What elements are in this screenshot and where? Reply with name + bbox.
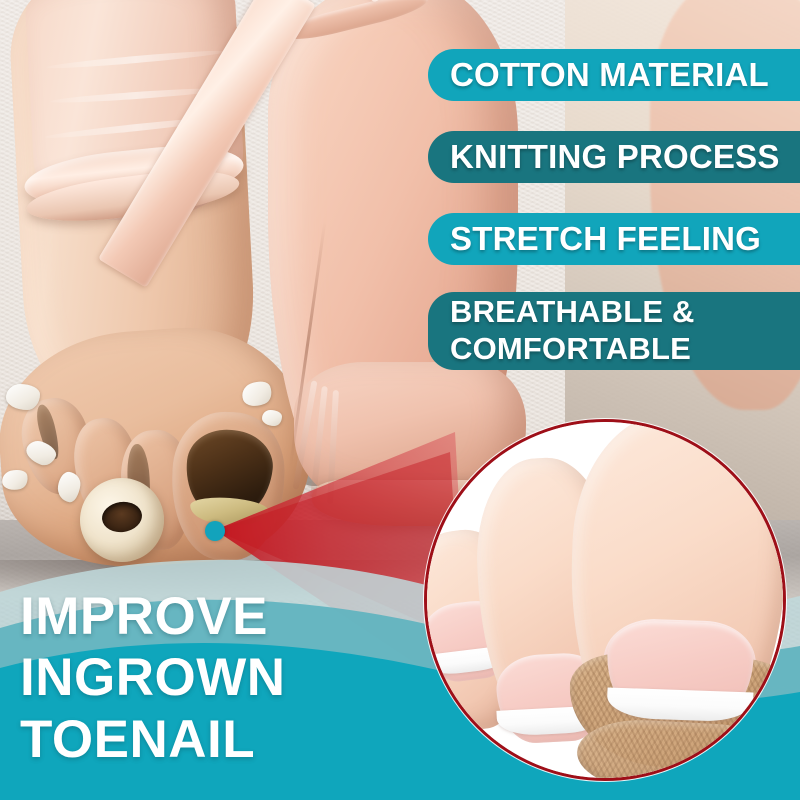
feature-banner-knitting-process[interactable]: KNITTING PROCESS	[428, 131, 800, 183]
feature-banner-label: KNITTING PROCESS	[450, 138, 780, 176]
feature-banner-label-group: BREATHABLE & COMFORTABLE	[450, 294, 695, 367]
headline-line-1: IMPROVE	[20, 586, 286, 647]
magnifier-content	[427, 422, 783, 778]
headline-line-2: INGROWN	[20, 647, 286, 708]
feature-banner-label: STRETCH FEELING	[450, 220, 761, 258]
magnifier-circle	[424, 419, 786, 781]
headline-line-3: TOENAIL	[20, 709, 286, 770]
product-poster: COTTON MATERIAL KNITTING PROCESS STRETCH…	[0, 0, 800, 800]
callout-origin-dot	[205, 521, 225, 541]
feature-banner-stretch-feeling[interactable]: STRETCH FEELING	[428, 213, 800, 265]
headline: IMPROVE INGROWN TOENAIL	[20, 586, 286, 770]
feature-banner-cotton-material[interactable]: COTTON MATERIAL	[428, 49, 800, 101]
feature-banner-breathable-comfortable[interactable]: BREATHABLE & COMFORTABLE	[428, 292, 800, 370]
feature-banner-label-line2: COMFORTABLE	[450, 331, 695, 368]
feature-banner-list: COTTON MATERIAL KNITTING PROCESS STRETCH…	[0, 0, 800, 400]
feature-banner-label: COTTON MATERIAL	[450, 56, 769, 94]
feature-banner-label-line1: BREATHABLE &	[450, 294, 695, 331]
